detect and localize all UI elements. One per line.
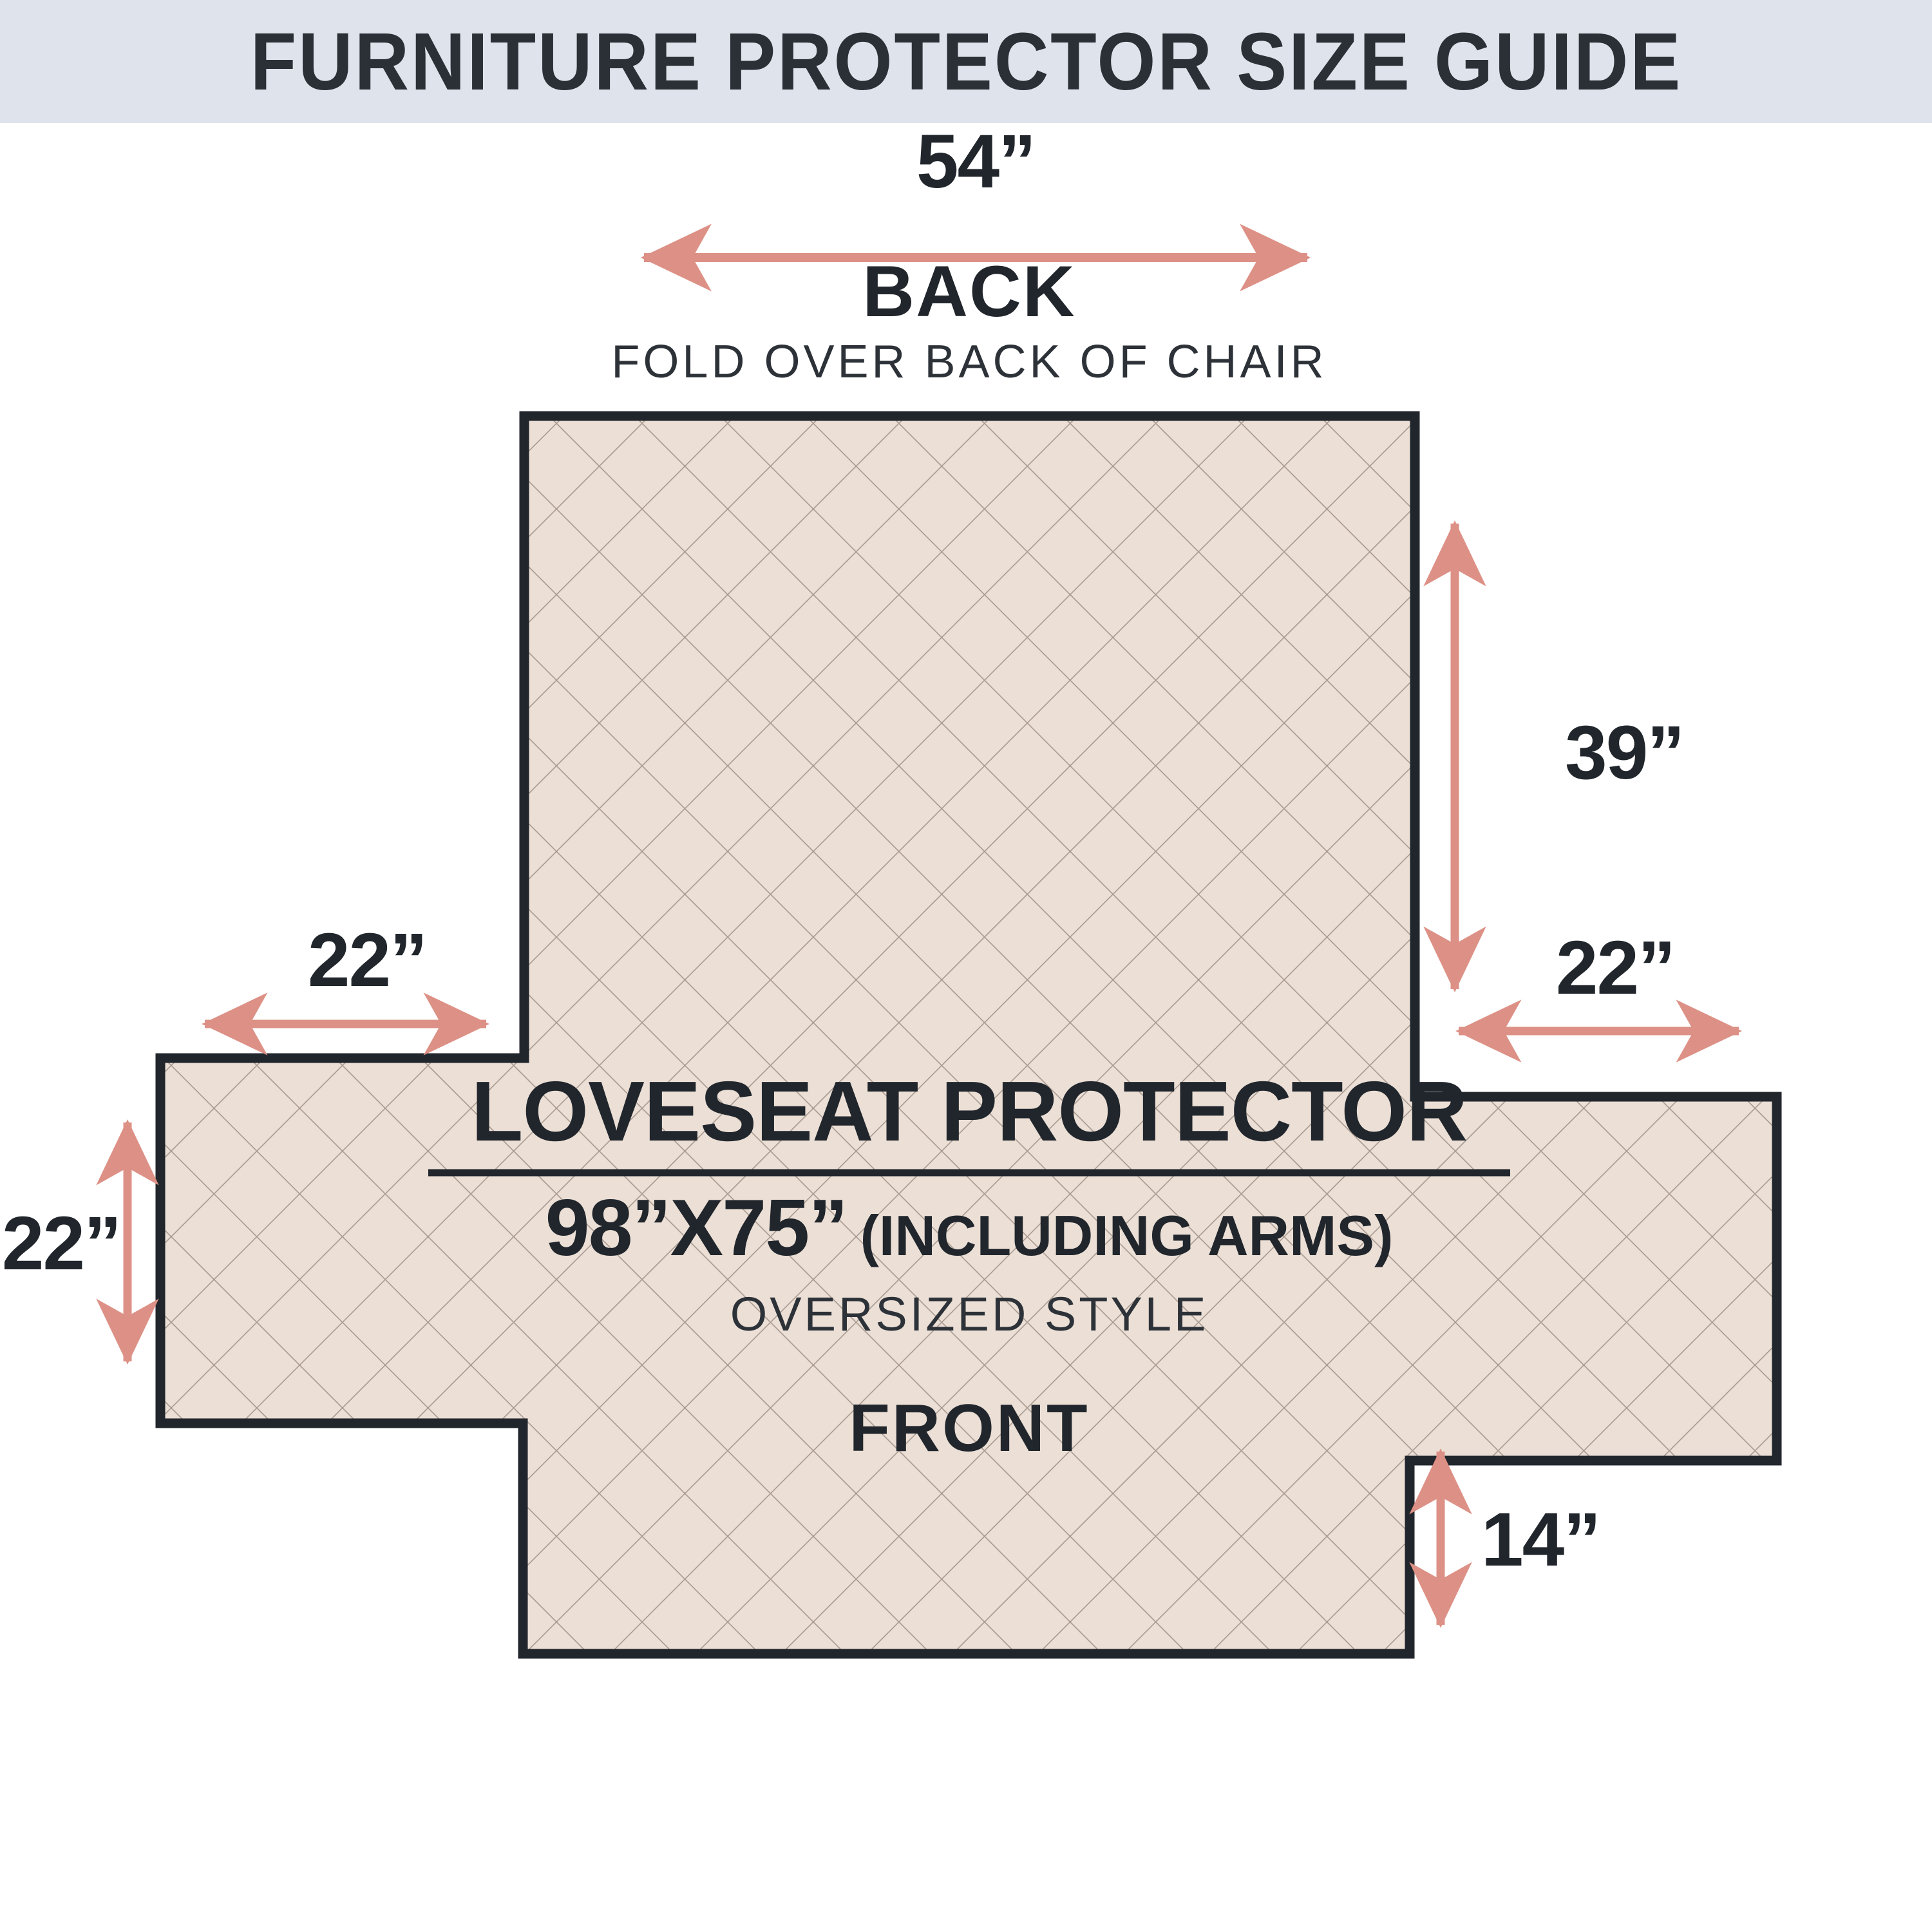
page-title: FURNITURE PROTECTOR SIZE GUIDE [250, 21, 1681, 102]
dimension-front-height: 14” [1441, 1452, 1600, 1625]
back-panel-subtitle: FOLD OVER BACK OF CHAIR [611, 336, 1327, 388]
protector-shape-svg: BACK FOLD OVER BACK OF CHAIR LOVESEAT PR… [0, 123, 1932, 1932]
dimension-back-height-label: 39” [1565, 710, 1683, 795]
center-panel-title: LOVESEAT PROTECTOR [471, 1064, 1468, 1159]
dimension-front-height-label: 14” [1481, 1497, 1600, 1582]
dimension-right-arm-width: 22” [1459, 925, 1739, 1031]
dimension-back-height: 39” [1455, 524, 1683, 989]
back-panel-title: BACK [862, 251, 1076, 332]
header-bar: FURNITURE PROTECTOR SIZE GUIDE [0, 0, 1932, 123]
dimension-left-arm-width-label: 22” [308, 918, 426, 1003]
front-panel-title: FRONT [849, 1391, 1089, 1466]
dimension-right-arm-width-label: 22” [1556, 925, 1674, 1010]
dimension-back-width-label: 54” [916, 123, 1035, 204]
center-panel-style: OVERSIZED STYLE [730, 1287, 1209, 1341]
size-guide-diagram: BACK FOLD OVER BACK OF CHAIR LOVESEAT PR… [0, 123, 1932, 1932]
dimension-back-width: 54” [644, 123, 1307, 258]
dimension-left-arm-height-label: 22” [2, 1201, 120, 1286]
dimension-left-arm-height: 22” [2, 1122, 128, 1361]
center-panel-size: 98”X75” [545, 1184, 848, 1273]
center-panel-size-note: (INCLUDING ARMS) [860, 1204, 1394, 1267]
dimension-left-arm-width: 22” [205, 918, 486, 1024]
